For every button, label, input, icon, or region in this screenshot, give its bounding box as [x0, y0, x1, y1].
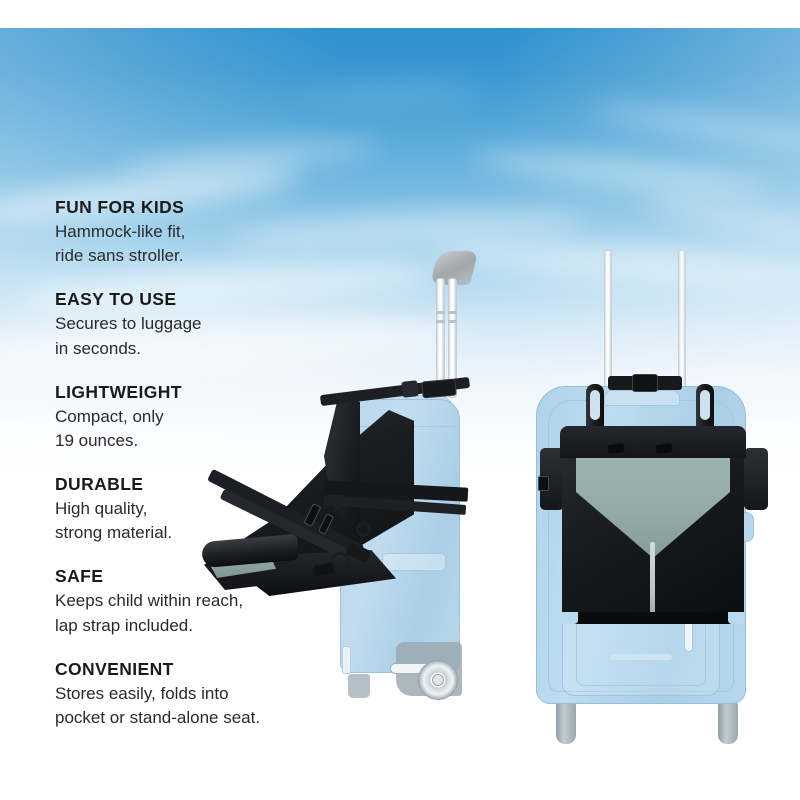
feature-title: DURABLE: [55, 473, 375, 496]
feature-list: FUN FOR KIDS Hammock-like fit, ride sans…: [55, 196, 375, 750]
feature-title: LIGHTWEIGHT: [55, 381, 375, 404]
feature-description-line: Secures to luggage: [55, 312, 375, 336]
suitcase-top-handle: [604, 390, 680, 406]
seat-loop-opening: [700, 390, 710, 420]
feature-item-easy-to-use: EASY TO USE Secures to luggage in second…: [55, 288, 375, 360]
feature-item-fun-for-kids: FUN FOR KIDS Hammock-like fit, ride sans…: [55, 196, 375, 268]
handle-notch: [436, 320, 445, 323]
seat-header-notch: [656, 443, 673, 454]
feature-item-convenient: CONVENIENT Stores easily, folds into poc…: [55, 658, 375, 730]
seat-top-buckle: [632, 374, 658, 392]
seat-side-buckle: [538, 476, 549, 491]
seat-bottom-corner-cut: [562, 612, 578, 624]
feature-description-line: Stores easily, folds into: [55, 682, 375, 706]
feature-title: SAFE: [55, 565, 375, 588]
suitcase-side-handle-recess: [382, 553, 446, 571]
seat-bottom-lip: [562, 612, 744, 624]
feature-title: EASY TO USE: [55, 288, 375, 311]
seat-header-band: [560, 426, 746, 458]
suitcase-pocket-tab: [610, 654, 672, 660]
feature-description-line: Compact, only: [55, 405, 375, 429]
seat-loop-opening: [590, 390, 600, 420]
suitcase-wheel-hub: [432, 674, 444, 686]
feature-description-line: High quality,: [55, 497, 375, 521]
feature-title: CONVENIENT: [55, 658, 375, 681]
feature-item-lightweight: LIGHTWEIGHT Compact, only 19 ounces.: [55, 381, 375, 453]
feature-graphic-page: FUN FOR KIDS Hammock-like fit, ride sans…: [0, 0, 800, 800]
seat-top-buckle: [421, 379, 456, 399]
seat-side-wing: [744, 448, 768, 510]
handle-notch: [448, 311, 457, 314]
feature-description-line: Keeps child within reach,: [55, 589, 375, 613]
feature-description-line: 19 ounces.: [55, 429, 375, 453]
feature-description-line: lap strap included.: [55, 614, 375, 638]
feature-description-line: strong material.: [55, 521, 375, 545]
feature-title: FUN FOR KIDS: [55, 196, 375, 219]
seat-top-buckle: [401, 380, 419, 398]
suitcase-wheel: [556, 700, 576, 744]
feature-description-line: ride sans stroller.: [55, 244, 375, 268]
handle-notch: [448, 320, 457, 323]
handle-notch: [436, 311, 445, 314]
product-image-front-view: [500, 250, 800, 730]
seat-header-notch: [608, 443, 625, 454]
suitcase-wheel: [718, 700, 738, 744]
feature-item-safe: SAFE Keeps child within reach, lap strap…: [55, 565, 375, 637]
feature-description-line: Hammock-like fit,: [55, 220, 375, 244]
feature-description-line: in seconds.: [55, 337, 375, 361]
feature-item-durable: DURABLE High quality, strong material.: [55, 473, 375, 545]
feature-description-line: pocket or stand-alone seat.: [55, 706, 375, 730]
seat-bottom-corner-cut: [728, 612, 744, 624]
